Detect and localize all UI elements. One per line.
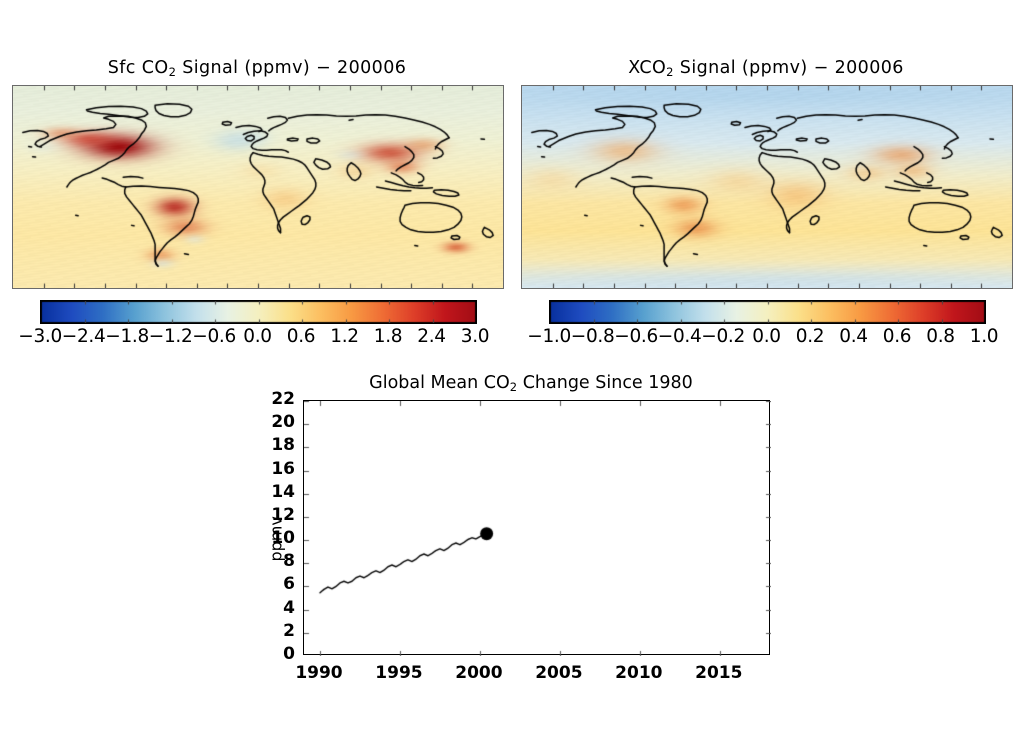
colorbar-tick-label: −3.0: [18, 326, 62, 347]
colorbar-tick-label: 0.0: [236, 326, 280, 347]
sfc-co2-colorbar-gradient: [40, 300, 477, 324]
sfc-co2-map-canvas: [13, 86, 503, 288]
sfc-co2-title-suffix: Signal (ppmv) − 200006: [176, 58, 406, 78]
colorbar-tick-label: 0.0: [745, 326, 789, 347]
timeseries-y-tick-label: 12: [261, 505, 295, 525]
timeseries-x-tick-label: 2000: [439, 663, 519, 683]
timeseries-y-tick-label: 18: [261, 435, 295, 455]
timeseries-y-tick-label: 20: [261, 412, 295, 432]
xco2-colorbar-gradient: [549, 300, 986, 324]
colorbar-tick-label: 2.4: [410, 326, 454, 347]
timeseries-y-tick-label: 14: [261, 482, 295, 502]
colorbar-tick-label: 1.8: [366, 326, 410, 347]
colorbar-tick-label: 0.2: [788, 326, 832, 347]
timeseries-y-tick-label: 2: [261, 621, 295, 641]
xco2-map-canvas: [522, 86, 1012, 288]
timeseries-y-tick-label: 16: [261, 459, 295, 479]
colorbar-tick-label: −2.4: [62, 326, 106, 347]
colorbar-tick-label: 0.4: [832, 326, 876, 347]
timeseries-canvas: [304, 401, 771, 656]
colorbar-tick-label: 3.0: [453, 326, 497, 347]
sfc-co2-title: Sfc CO2 Signal (ppmv) − 200006: [12, 58, 502, 78]
colorbar-tick-label: 0.6: [875, 326, 919, 347]
xco2-title: XCO2 Signal (ppmv) − 200006: [521, 58, 1011, 78]
timeseries-title-suffix: Change Since 1980: [517, 373, 693, 393]
colorbar-tick-label: 0.8: [919, 326, 963, 347]
sfc-co2-colorbar-ticklabels: −3.0−2.4−1.8−1.2−0.60.00.61.21.82.43.0: [18, 326, 497, 347]
xco2-title-subscript: 2: [666, 65, 674, 79]
colorbar-tick-label: 1.2: [323, 326, 367, 347]
sfc-co2-title-prefix: Sfc CO: [108, 58, 169, 78]
timeseries-x-tick-label: 2015: [679, 663, 759, 683]
colorbar-tick-label: −0.6: [192, 326, 236, 347]
colorbar-tick-label: −0.6: [614, 326, 658, 347]
timeseries-y-tick-label: 22: [261, 389, 295, 409]
timeseries-plot-area[interactable]: [303, 400, 770, 655]
colorbar-tick-label: −0.4: [658, 326, 702, 347]
timeseries-x-tick-label: 1990: [279, 663, 359, 683]
timeseries-y-tick-label: 8: [261, 551, 295, 571]
timeseries-y-tick-label: 6: [261, 574, 295, 594]
timeseries-x-tick-label: 2010: [599, 663, 679, 683]
timeseries-title-subscript: 2: [510, 380, 517, 394]
timeseries-x-tick-label: 2005: [519, 663, 599, 683]
colorbar-tick-label: −0.2: [701, 326, 745, 347]
xco2-title-prefix: XCO: [628, 58, 666, 78]
xco2-colorbar: −1.0−0.8−0.6−0.4−0.20.00.20.40.60.81.0: [549, 300, 984, 352]
colorbar-tick-label: −0.8: [571, 326, 615, 347]
xco2-title-suffix: Signal (ppmv) − 200006: [674, 58, 904, 78]
sfc-co2-title-subscript: 2: [169, 65, 177, 79]
colorbar-tick-label: −1.8: [105, 326, 149, 347]
colorbar-tick-label: −1.2: [149, 326, 193, 347]
colorbar-tick-label: 0.6: [279, 326, 323, 347]
timeseries-x-tick-label: 1995: [359, 663, 439, 683]
colorbar-tick-label: −1.0: [527, 326, 571, 347]
timeseries-y-tick-label: 0: [261, 644, 295, 664]
xco2-map[interactable]: [521, 85, 1013, 289]
timeseries-title: Global Mean CO2 Change Since 1980: [286, 373, 776, 393]
timeseries-y-tick-label: 4: [261, 598, 295, 618]
timeseries-title-prefix: Global Mean CO: [369, 373, 510, 393]
colorbar-tick-label: 1.0: [962, 326, 1006, 347]
timeseries-y-tick-label: 10: [261, 528, 295, 548]
xco2-colorbar-ticklabels: −1.0−0.8−0.6−0.4−0.20.00.20.40.60.81.0: [527, 326, 1006, 347]
sfc-co2-map[interactable]: [12, 85, 504, 289]
sfc-co2-colorbar: −3.0−2.4−1.8−1.2−0.60.00.61.21.82.43.0: [40, 300, 475, 352]
